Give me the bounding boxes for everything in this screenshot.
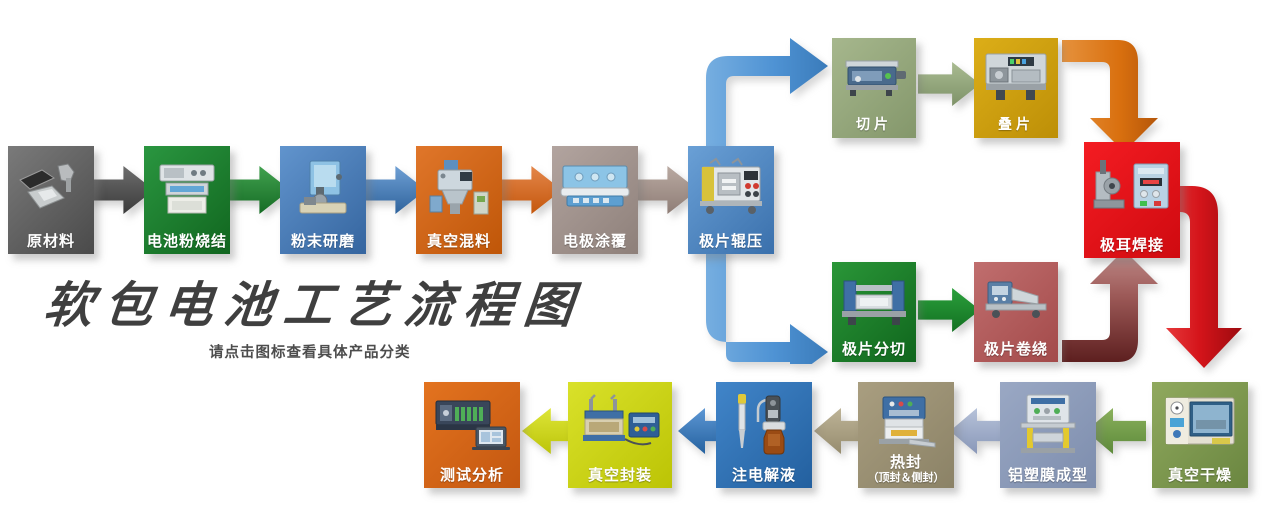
vacuum-sealer-icon (568, 388, 672, 458)
page-subtitle: 请点击图标查看具体产品分类 (209, 341, 584, 362)
node-label: 极耳焊接 (1100, 237, 1164, 254)
coating-machine-icon (552, 152, 638, 224)
node-sintering[interactable]: 电池粉烧结 (144, 146, 230, 254)
node-vacuum-mixing[interactable]: 真空混料 (416, 146, 502, 254)
raw-materials-icon (8, 152, 94, 224)
node-sublabel: （顶封＆侧封） (868, 471, 945, 484)
heat-sealer-icon (858, 388, 954, 458)
ball-mill-icon (280, 152, 366, 224)
film-forming-machine-icon (1000, 388, 1096, 458)
arrow-slicing-to-stacking (918, 62, 980, 106)
node-label: 电池粉烧结 (147, 233, 227, 250)
arrow-cutting-to-winding (918, 288, 980, 332)
node-raw-material[interactable]: 原材料 (8, 146, 94, 254)
node-label: 原材料 (27, 233, 75, 250)
electrolyte-filler-icon (716, 388, 812, 458)
node-label: 极片分切 (842, 341, 906, 358)
slicing-machine-icon (832, 44, 916, 108)
node-electrolyte[interactable]: 注电解液 (716, 382, 812, 488)
node-label: 铝塑膜成型 (1008, 467, 1088, 484)
node-vacuum-packing[interactable]: 真空封装 (568, 382, 672, 488)
winding-machine-icon (974, 268, 1058, 332)
node-label: 极片辊压 (699, 233, 763, 250)
node-label: 真空干燥 (1168, 467, 1232, 484)
node-label: 测试分析 (440, 467, 504, 484)
node-slicing[interactable]: 切片 (832, 38, 916, 138)
node-label: 极片卷绕 (984, 341, 1048, 358)
node-label: 热封 (890, 454, 922, 471)
node-label: 粉末研磨 (291, 233, 355, 250)
slitting-machine-icon (832, 268, 916, 332)
vacuum-mixer-icon (416, 152, 502, 224)
node-rolling[interactable]: 极片辊压 (688, 146, 774, 254)
page-title: 软包电池工艺流程图 (41, 277, 587, 333)
node-grinding[interactable]: 粉末研磨 (280, 146, 366, 254)
node-label: 真空混料 (427, 233, 491, 250)
node-film-forming[interactable]: 铝塑膜成型 (1000, 382, 1096, 488)
node-label: 注电解液 (732, 467, 796, 484)
stacking-machine-icon (974, 44, 1058, 108)
tube-furnace-icon (144, 152, 230, 224)
node-cutting[interactable]: 极片分切 (832, 262, 916, 362)
title-block: 软包电池工艺流程图 请点击图标查看具体产品分类 (44, 277, 584, 362)
node-winding[interactable]: 极片卷绕 (974, 262, 1058, 362)
node-testing[interactable]: 测试分析 (424, 382, 520, 488)
node-label: 切片 (856, 117, 892, 134)
node-tab-welding[interactable]: 极耳焊接 (1084, 142, 1180, 258)
node-heat-sealing[interactable]: 热封 （顶封＆侧封） (858, 382, 954, 488)
spot-welder-icon (1084, 148, 1180, 228)
vacuum-oven-icon (1152, 388, 1248, 458)
node-label: 电极涂覆 (563, 233, 627, 250)
flowchart-canvas: 软包电池工艺流程图 请点击图标查看具体产品分类 (0, 0, 1264, 505)
node-coating[interactable]: 电极涂覆 (552, 146, 638, 254)
node-label: 叠片 (998, 117, 1034, 134)
node-vacuum-drying[interactable]: 真空干燥 (1152, 382, 1248, 488)
connector-stacking-to-welding (1062, 34, 1174, 154)
roller-press-icon (688, 152, 774, 224)
battery-tester-icon (424, 388, 520, 458)
node-label: 真空封装 (588, 467, 652, 484)
node-stacking[interactable]: 叠片 (974, 38, 1058, 138)
